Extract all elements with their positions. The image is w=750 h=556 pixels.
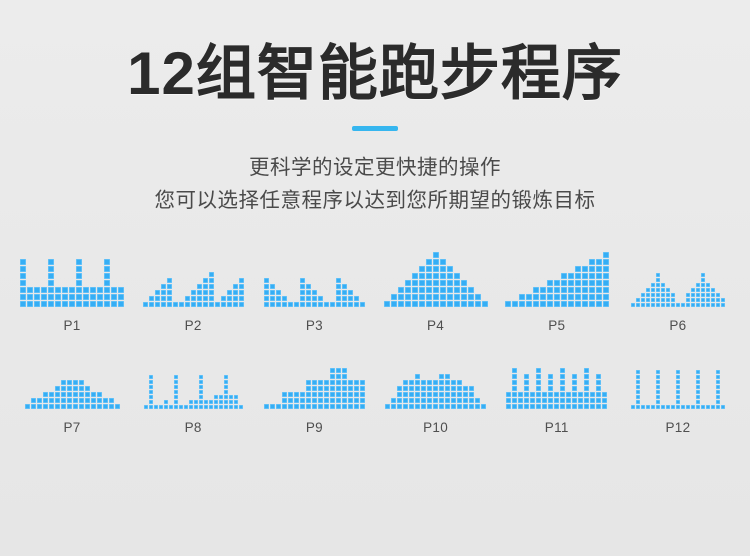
pattern-cell [512, 386, 517, 391]
pattern-column [179, 302, 184, 307]
pattern-cell [596, 259, 602, 265]
pattern-cell [701, 283, 705, 287]
pattern-cell [318, 404, 323, 409]
pattern-cell [264, 290, 269, 295]
pattern-cell [306, 302, 311, 307]
pattern-cell [239, 296, 244, 301]
pattern-cell [415, 404, 420, 409]
pattern-cell [603, 280, 609, 286]
pattern-cell [405, 294, 411, 300]
pattern-cell [155, 290, 160, 295]
pattern-cell [330, 404, 335, 409]
pattern-cell [300, 290, 305, 295]
pattern-cell [433, 280, 439, 286]
pattern-column [475, 398, 480, 409]
pattern-cell [602, 404, 607, 409]
pattern-column [530, 392, 535, 409]
pattern-cell [20, 259, 26, 265]
subtitle-line-2: 您可以选择任意程序以达到您所期望的锻炼目标 [0, 184, 750, 217]
pattern-cell [174, 385, 178, 389]
pattern-cell [566, 398, 571, 403]
pattern-cell [589, 294, 595, 300]
pattern-cell [300, 398, 305, 403]
pattern-cell [221, 296, 226, 301]
pattern-column [79, 380, 84, 409]
pattern-cell [512, 398, 517, 403]
pattern-column [706, 405, 710, 409]
pattern-cell [506, 398, 511, 403]
pattern-cell [596, 386, 601, 391]
pattern-cell [451, 392, 456, 397]
pattern-cell [204, 405, 208, 409]
pattern-cell [312, 398, 317, 403]
pattern-cell [506, 392, 511, 397]
pattern-cell [584, 404, 589, 409]
pattern-cell [439, 386, 444, 391]
pattern-column [506, 392, 511, 409]
pattern-cell [427, 392, 432, 397]
pattern-cell [706, 405, 710, 409]
pattern-column [540, 287, 546, 307]
pattern-cell [584, 380, 589, 385]
pattern-cell [49, 392, 54, 397]
program-p6[interactable]: P6 [622, 245, 734, 333]
pattern-cell [691, 298, 695, 302]
pattern-column [519, 294, 525, 307]
pattern-cell [342, 398, 347, 403]
pattern-cell [656, 375, 660, 379]
pattern-cell [636, 375, 640, 379]
pattern-cell [348, 290, 353, 295]
subtitle-line-1: 更科学的设定更快捷的操作 [0, 151, 750, 184]
pattern-cell [409, 404, 414, 409]
pattern-cell [427, 398, 432, 403]
pattern-cell [409, 386, 414, 391]
pattern-cell [561, 301, 567, 307]
pattern-cell [433, 380, 438, 385]
pattern-cell [603, 287, 609, 293]
pattern-cell [590, 398, 595, 403]
pattern-cell [651, 298, 655, 302]
pattern-cell [651, 303, 655, 307]
pattern-cell [179, 302, 184, 307]
pattern-cell [224, 400, 228, 404]
pattern-column [447, 266, 453, 307]
pattern-cell [439, 380, 444, 385]
pattern-cell [706, 298, 710, 302]
pattern-cell [691, 405, 695, 409]
pattern-cell [426, 301, 432, 307]
pattern-column [481, 404, 486, 409]
program-p8[interactable]: P8 [137, 347, 249, 435]
pattern-cell [419, 273, 425, 279]
pattern-cell [636, 298, 640, 302]
pattern-cell [409, 398, 414, 403]
pattern-cell [701, 273, 705, 277]
pattern-column [69, 287, 75, 307]
pattern-cell [83, 301, 89, 307]
pattern-cell [306, 404, 311, 409]
pattern-cell [426, 287, 432, 293]
pattern-column [109, 398, 114, 409]
pattern-column [568, 273, 574, 307]
pattern-column [282, 392, 287, 409]
pattern-cell [83, 287, 89, 293]
pattern-cell [294, 398, 299, 403]
pattern-cell [185, 296, 190, 301]
pattern-cell [560, 386, 565, 391]
pattern-cell [454, 287, 460, 293]
pattern-cell [681, 405, 685, 409]
pattern-cell [631, 405, 635, 409]
pattern-column [433, 380, 438, 409]
pattern-cell [233, 302, 238, 307]
pattern-cell [542, 392, 547, 397]
pattern-cell [596, 273, 602, 279]
pattern-cell [229, 395, 233, 399]
pattern-cell [572, 398, 577, 403]
pattern-cell [385, 404, 390, 409]
pattern-cell [155, 296, 160, 301]
pattern-cell [536, 398, 541, 403]
pattern-cell [451, 386, 456, 391]
pattern-cell [348, 380, 353, 385]
pattern-cell [716, 370, 720, 374]
pattern-cell [164, 400, 168, 404]
pattern-column [118, 287, 124, 307]
program-p2[interactable]: P2 [137, 245, 249, 333]
pattern-cell [330, 392, 335, 397]
pattern-cell [578, 404, 583, 409]
pattern-cell [554, 280, 560, 286]
pattern-column [421, 380, 426, 409]
pattern-cell [104, 301, 110, 307]
pattern-cell [111, 287, 117, 293]
pattern-cell [336, 392, 341, 397]
pattern-cell [475, 398, 480, 403]
pattern-column [91, 392, 96, 409]
pattern-column [62, 287, 68, 307]
program-label: P5 [548, 318, 565, 333]
pattern-column [398, 287, 404, 307]
pattern-cell [318, 392, 323, 397]
program-pattern [505, 245, 609, 307]
program-pattern [631, 347, 725, 409]
pattern-cell [227, 302, 232, 307]
pattern-cell [149, 296, 154, 301]
pattern-cell [288, 398, 293, 403]
pattern-cell [547, 301, 553, 307]
pattern-cell [91, 392, 96, 397]
pattern-cell [447, 280, 453, 286]
pattern-cell [191, 302, 196, 307]
pattern-cell [239, 284, 244, 289]
pattern-cell [197, 284, 202, 289]
pattern-cell [596, 266, 602, 272]
program-grid: P1P2P3P4P5P6 P7P8P9P10P11P12 [0, 245, 750, 435]
pattern-cell [397, 386, 402, 391]
program-p7[interactable]: P7 [16, 347, 128, 435]
pattern-cell [572, 374, 577, 379]
pattern-cell [97, 404, 102, 409]
pattern-cell [233, 296, 238, 301]
pattern-cell [67, 404, 72, 409]
pattern-cell [701, 405, 705, 409]
pattern-column [696, 283, 700, 307]
pattern-cell [686, 298, 690, 302]
pattern-cell [656, 288, 660, 292]
program-p3[interactable]: P3 [258, 245, 370, 333]
pattern-cell [31, 398, 36, 403]
pattern-cell [636, 395, 640, 399]
pattern-column [312, 380, 317, 409]
pattern-cell [518, 398, 523, 403]
pattern-cell [701, 288, 705, 292]
pattern-cell [602, 392, 607, 397]
pattern-cell [312, 302, 317, 307]
pattern-column [636, 370, 640, 409]
pattern-cell [540, 287, 546, 293]
pattern-cell [589, 301, 595, 307]
pattern-cell [596, 374, 601, 379]
pattern-cell [646, 303, 650, 307]
pattern-cell [696, 405, 700, 409]
pattern-cell [696, 283, 700, 287]
pattern-cell [656, 298, 660, 302]
pattern-cell [103, 404, 108, 409]
pattern-column [270, 404, 275, 409]
pattern-column [97, 392, 102, 409]
pattern-cell [433, 287, 439, 293]
pattern-cell [554, 294, 560, 300]
pattern-cell [589, 259, 595, 265]
pattern-column [691, 288, 695, 307]
pattern-cell [149, 302, 154, 307]
pattern-column [681, 303, 685, 307]
pattern-cell [415, 392, 420, 397]
pattern-cell [711, 288, 715, 292]
pattern-column [548, 374, 553, 409]
pattern-cell [676, 303, 680, 307]
pattern-cell [445, 398, 450, 403]
pattern-cell [469, 386, 474, 391]
pattern-column [686, 405, 690, 409]
program-label: P6 [669, 318, 686, 333]
pattern-cell [554, 398, 559, 403]
pattern-column [276, 404, 281, 409]
pattern-cell [412, 294, 418, 300]
pattern-cell [191, 296, 196, 301]
pattern-cell [656, 405, 660, 409]
pattern-cell [405, 287, 411, 293]
pattern-cell [524, 392, 529, 397]
pattern-cell [412, 301, 418, 307]
page-title: 12组智能跑步程序 [0, 42, 750, 105]
pattern-cell [440, 259, 446, 265]
pattern-cell [568, 287, 574, 293]
pattern-cell [447, 266, 453, 272]
pattern-cell [463, 404, 468, 409]
pattern-cell [651, 405, 655, 409]
pattern-cell [468, 294, 474, 300]
pattern-cell [457, 392, 462, 397]
pattern-cell [336, 296, 341, 301]
pattern-cell [676, 400, 680, 404]
pattern-cell [276, 290, 281, 295]
pattern-column [234, 395, 238, 409]
pattern-cell [560, 368, 565, 373]
pattern-cell [636, 400, 640, 404]
pattern-cell [62, 301, 68, 307]
pattern-column [671, 405, 675, 409]
pattern-cell [197, 302, 202, 307]
pattern-cell [118, 301, 124, 307]
pattern-cell [144, 405, 148, 409]
pattern-column [159, 405, 163, 409]
pattern-cell [306, 296, 311, 301]
pattern-cell [398, 294, 404, 300]
pattern-cell [415, 374, 420, 379]
pattern-cell [603, 252, 609, 258]
pattern-cell [560, 392, 565, 397]
pattern-cell [55, 404, 60, 409]
pattern-column [716, 293, 720, 307]
program-p1[interactable]: P1 [16, 245, 128, 333]
pattern-cell [348, 404, 353, 409]
title-underline-bar [352, 126, 398, 131]
pattern-cell [169, 405, 173, 409]
pattern-cell [224, 390, 228, 394]
pattern-column [512, 368, 517, 409]
pattern-column [199, 375, 203, 409]
program-p5[interactable]: P5 [501, 245, 613, 333]
pattern-cell [27, 294, 33, 300]
pattern-column [636, 298, 640, 307]
program-pattern [143, 245, 244, 307]
pattern-cell [282, 296, 287, 301]
pattern-cell [55, 287, 61, 293]
program-p11[interactable]: P11 [501, 347, 613, 435]
pattern-cell [547, 280, 553, 286]
pattern-cell [433, 252, 439, 258]
pattern-cell [568, 273, 574, 279]
pattern-cell [336, 284, 341, 289]
pattern-cell [104, 287, 110, 293]
program-label: P8 [185, 420, 202, 435]
pattern-cell [666, 293, 670, 297]
pattern-cell [109, 404, 114, 409]
program-p9[interactable]: P9 [258, 347, 370, 435]
pattern-column [276, 290, 281, 307]
pattern-column [419, 266, 425, 307]
pattern-cell [49, 398, 54, 403]
pattern-cell [69, 294, 75, 300]
pattern-cell [76, 259, 82, 265]
pattern-cell [191, 290, 196, 295]
pattern-cell [415, 398, 420, 403]
pattern-column [306, 284, 311, 307]
pattern-cell [360, 398, 365, 403]
pattern-column [348, 380, 353, 409]
pattern-cell [542, 398, 547, 403]
pattern-cell [603, 273, 609, 279]
program-p4[interactable]: P4 [380, 245, 492, 333]
pattern-cell [447, 287, 453, 293]
pattern-column [603, 252, 609, 307]
pattern-cell [519, 294, 525, 300]
pattern-cell [547, 294, 553, 300]
pattern-cell [641, 303, 645, 307]
program-label: P10 [423, 420, 448, 435]
pattern-cell [603, 294, 609, 300]
pattern-column [716, 370, 720, 409]
pattern-column [239, 405, 243, 409]
program-p12[interactable]: P12 [622, 347, 734, 435]
pattern-cell [184, 405, 188, 409]
pattern-cell [20, 280, 26, 286]
pattern-cell [566, 392, 571, 397]
pattern-cell [73, 380, 78, 385]
pattern-cell [354, 404, 359, 409]
pattern-cell [451, 380, 456, 385]
pattern-cell [324, 386, 329, 391]
pattern-cell [149, 405, 153, 409]
pattern-cell [48, 259, 54, 265]
pattern-cell [348, 398, 353, 403]
pattern-cell [646, 298, 650, 302]
pattern-cell [433, 404, 438, 409]
pattern-cell [440, 280, 446, 286]
pattern-column [169, 405, 173, 409]
pattern-cell [721, 303, 725, 307]
pattern-cell [457, 398, 462, 403]
pattern-cell [540, 294, 546, 300]
pattern-cell [696, 293, 700, 297]
pattern-cell [118, 294, 124, 300]
pattern-cell [288, 392, 293, 397]
pattern-cell [716, 293, 720, 297]
pattern-cell [189, 405, 193, 409]
pattern-cell [524, 398, 529, 403]
program-pattern [264, 347, 365, 409]
pattern-cell [568, 294, 574, 300]
pattern-cell [603, 259, 609, 265]
pattern-column [270, 284, 275, 307]
pattern-cell [55, 301, 61, 307]
pattern-cell [512, 380, 517, 385]
pattern-cell [199, 400, 203, 404]
pattern-cell [506, 404, 511, 409]
pattern-cell [115, 404, 120, 409]
pattern-cell [215, 302, 220, 307]
program-label: P9 [306, 420, 323, 435]
pattern-cell [203, 284, 208, 289]
pattern-cell [536, 374, 541, 379]
pattern-cell [696, 375, 700, 379]
pattern-cell [55, 398, 60, 403]
pattern-cell [20, 273, 26, 279]
pattern-cell [48, 273, 54, 279]
program-pattern [264, 245, 365, 307]
promo-page: 12组智能跑步程序 更科学的设定更快捷的操作 您可以选择任意程序以达到您所期望的… [0, 0, 750, 556]
pattern-cell [342, 302, 347, 307]
pattern-cell [641, 405, 645, 409]
pattern-cell [354, 386, 359, 391]
pattern-cell [173, 302, 178, 307]
program-p10[interactable]: P10 [380, 347, 492, 435]
program-row-2: P7P8P9P10P11P12 [16, 347, 734, 435]
pattern-cell [330, 386, 335, 391]
